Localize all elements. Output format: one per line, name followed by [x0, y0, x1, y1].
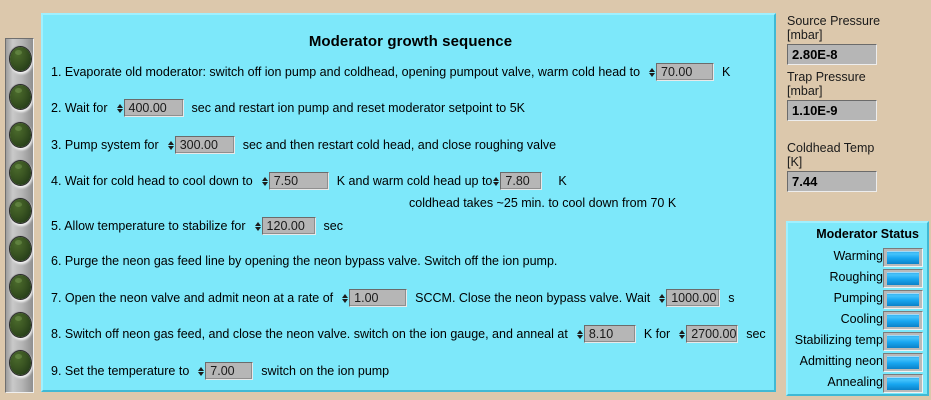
- app-window: Moderator growth sequence 1. Evaporate o…: [0, 0, 931, 400]
- led-indicator-icon: [10, 47, 31, 71]
- step-8-numeric-control-b[interactable]: 2700.00: [678, 325, 738, 343]
- step-8-mid-text: K for: [644, 327, 670, 341]
- step-7-mid-text: SCCM. Close the neon bypass valve. Wait: [415, 291, 650, 305]
- moderator-sequence-panel: Moderator growth sequence 1. Evaporate o…: [41, 13, 776, 392]
- step-2-text: 2. Wait for: [51, 101, 108, 115]
- status-row-admitting-neon: Admitting neon: [788, 353, 927, 374]
- step-4-value-b[interactable]: 7.80: [500, 172, 542, 190]
- spinner-arrows-icon[interactable]: [167, 136, 175, 154]
- led-indicator-icon: [10, 351, 31, 375]
- status-led-indicator-icon: [887, 356, 919, 369]
- status-led-frame: [883, 353, 923, 372]
- trap-pressure-value: 1.10E-9: [787, 100, 877, 121]
- step-row-4: 4. Wait for cold head to cool down to 7.…: [43, 170, 778, 192]
- status-led-indicator-icon: [887, 251, 919, 264]
- step-7-value-b[interactable]: 1000.00: [666, 289, 720, 307]
- spinner-arrows-icon[interactable]: [576, 325, 584, 343]
- step-led-7: [6, 271, 35, 309]
- trap-pressure-label-line1: Trap Pressure: [787, 70, 866, 84]
- status-led-indicator-icon: [887, 377, 919, 390]
- step-4-numeric-control-a[interactable]: 7.50: [261, 172, 329, 190]
- source-pressure-value: 2.80E-8: [787, 44, 877, 65]
- step-2-value[interactable]: 400.00: [124, 99, 184, 117]
- spinner-arrows-icon[interactable]: [254, 217, 262, 235]
- status-label: Admitting neon: [800, 353, 883, 370]
- step-3-suffix: sec and then restart cold head, and clos…: [243, 138, 556, 152]
- status-row-stabilizing-temp: Stabilizing temp: [788, 332, 927, 353]
- step-led-2: [6, 81, 35, 119]
- step-row-9: 9. Set the temperature to 7.00 switch on…: [43, 360, 778, 382]
- step-5-text: 5. Allow temperature to stabilize for: [51, 219, 246, 233]
- coldhead-temp-label-line2: [K]: [787, 155, 802, 169]
- spinner-arrows-icon[interactable]: [116, 99, 124, 117]
- status-label: Roughing: [829, 269, 883, 286]
- trap-pressure-label-line2: [mbar]: [787, 84, 822, 98]
- led-indicator-icon: [10, 199, 31, 223]
- step-row-6: 6. Purge the neon gas feed line by openi…: [43, 250, 778, 272]
- step-led-3: [6, 119, 35, 157]
- step-3-text: 3. Pump system for: [51, 138, 159, 152]
- spinner-arrows-icon[interactable]: [648, 63, 656, 81]
- step-7-numeric-control-a[interactable]: 1.00: [341, 289, 407, 307]
- step-5-unit: sec: [324, 219, 343, 233]
- led-indicator-icon: [10, 161, 31, 185]
- status-label: Stabilizing temp: [795, 332, 883, 349]
- status-led-frame: [883, 248, 923, 267]
- spinner-arrows-icon[interactable]: [492, 172, 500, 190]
- spinner-arrows-icon[interactable]: [678, 325, 686, 343]
- step-8-numeric-control-a[interactable]: 8.10: [576, 325, 636, 343]
- step-4-numeric-control-b[interactable]: 7.80: [492, 172, 542, 190]
- spinner-arrows-icon[interactable]: [261, 172, 269, 190]
- step-led-9: [6, 347, 35, 385]
- spinner-arrows-icon[interactable]: [341, 289, 349, 307]
- step-led-5: [6, 195, 35, 233]
- step-7-numeric-control-b[interactable]: 1000.00: [658, 289, 720, 307]
- step-5-value[interactable]: 120.00: [262, 217, 316, 235]
- status-led-frame: [883, 290, 923, 309]
- status-led-frame: [883, 374, 923, 393]
- step-8-value-a[interactable]: 8.10: [584, 325, 636, 343]
- led-indicator-icon: [10, 123, 31, 147]
- status-led-frame: [883, 311, 923, 330]
- step-7-text: 7. Open the neon valve and admit neon at…: [51, 291, 333, 305]
- status-label: Warming: [833, 248, 883, 265]
- status-led-frame: [883, 332, 923, 351]
- source-pressure-label-line2: [mbar]: [787, 28, 822, 42]
- led-indicator-icon: [10, 237, 31, 261]
- status-label: Cooling: [841, 311, 883, 328]
- status-label: Pumping: [834, 290, 883, 307]
- status-row-warming: Warming: [788, 248, 927, 269]
- step-9-value[interactable]: 7.00: [205, 362, 253, 380]
- status-led-frame: [883, 269, 923, 288]
- led-indicator-icon: [10, 313, 31, 337]
- step-8-text: 8. Switch off neon gas feed, and close t…: [51, 327, 568, 341]
- spinner-arrows-icon[interactable]: [658, 289, 666, 307]
- step-8-value-b[interactable]: 2700.00: [686, 325, 738, 343]
- coldhead-temp-label-line1: Coldhead Temp: [787, 141, 874, 155]
- spinner-arrows-icon[interactable]: [197, 362, 205, 380]
- step-6-text: 6. Purge the neon gas feed line by openi…: [51, 254, 557, 268]
- step-row-1: 1. Evaporate old moderator: switch off i…: [43, 61, 778, 83]
- step-2-suffix: sec and restart ion pump and reset moder…: [192, 101, 526, 115]
- step-9-suffix: switch on the ion pump: [261, 364, 389, 378]
- step-row-3: 3. Pump system for 300.00 sec and then r…: [43, 134, 778, 156]
- led-indicator-icon: [10, 275, 31, 299]
- status-row-annealing: Annealing: [788, 374, 927, 395]
- status-row-cooling: Cooling: [788, 311, 927, 332]
- step-5-numeric-control[interactable]: 120.00: [254, 217, 316, 235]
- step-4-value-a[interactable]: 7.50: [269, 172, 329, 190]
- step-row-2: 2. Wait for 400.00 sec and restart ion p…: [43, 97, 778, 119]
- coldhead-temp-value: 7.44: [787, 171, 877, 192]
- status-led-indicator-icon: [887, 314, 919, 327]
- step-9-numeric-control[interactable]: 7.00: [197, 362, 253, 380]
- coldhead-note: coldhead takes ~25 min. to cool down fro…: [409, 196, 676, 210]
- step-1-unit: K: [722, 65, 730, 79]
- step-7-unit: s: [728, 291, 734, 305]
- status-row-pumping: Pumping: [788, 290, 927, 311]
- step-led-8: [6, 309, 35, 347]
- status-led-indicator-icon: [887, 272, 919, 285]
- step-1-text: 1. Evaporate old moderator: switch off i…: [51, 65, 640, 79]
- status-label: Annealing: [827, 374, 883, 391]
- step-1-numeric-control[interactable]: 70.00: [648, 63, 714, 81]
- step-indicator-column: [5, 38, 34, 393]
- step-1-value[interactable]: 70.00: [656, 63, 714, 81]
- step-8-unit: sec: [746, 327, 765, 341]
- step-4-unit: K: [558, 174, 566, 188]
- step-3-value[interactable]: 300.00: [175, 136, 235, 154]
- step-3-numeric-control[interactable]: 300.00: [167, 136, 235, 154]
- step-led-6: [6, 233, 35, 271]
- page-title: Moderator growth sequence: [43, 33, 778, 50]
- status-row-roughing: Roughing: [788, 269, 927, 290]
- moderator-status-title: Moderator Status: [788, 227, 927, 241]
- status-led-indicator-icon: [887, 293, 919, 306]
- step-led-4: [6, 157, 35, 195]
- step-9-text: 9. Set the temperature to: [51, 364, 189, 378]
- step-2-numeric-control[interactable]: 400.00: [116, 99, 184, 117]
- led-indicator-icon: [10, 85, 31, 109]
- moderator-status-panel: Moderator Status WarmingRoughingPumpingC…: [786, 221, 929, 396]
- step-4-mid-text: K and warm cold head up to: [337, 174, 493, 188]
- step-4-text: 4. Wait for cold head to cool down to: [51, 174, 253, 188]
- step-row-8: 8. Switch off neon gas feed, and close t…: [43, 323, 778, 345]
- step-led-1: [6, 43, 35, 81]
- status-led-indicator-icon: [887, 335, 919, 348]
- step-7-value-a[interactable]: 1.00: [349, 289, 407, 307]
- step-row-5: 5. Allow temperature to stabilize for 12…: [43, 215, 778, 237]
- step-row-7: 7. Open the neon valve and admit neon at…: [43, 287, 778, 309]
- source-pressure-label-line1: Source Pressure: [787, 14, 880, 28]
